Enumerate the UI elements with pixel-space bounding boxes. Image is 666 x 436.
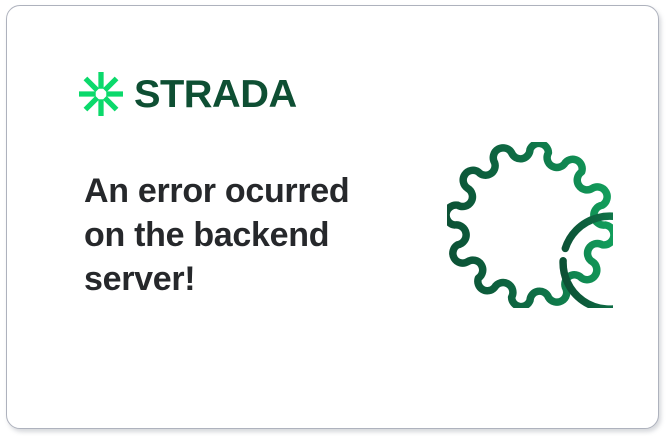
app-canvas: STRADA An error ocurred on the backend s… [0, 0, 666, 436]
error-message-line-3: server! [84, 257, 384, 301]
brand-logo: STRADA [79, 72, 294, 116]
error-message-line-2: on the backend [84, 213, 384, 257]
gear-spinner-icon [447, 142, 613, 308]
error-card: STRADA An error ocurred on the backend s… [6, 5, 659, 429]
asterisk-star-icon [79, 72, 123, 116]
error-message: An error ocurred on the backend server! [84, 169, 384, 301]
brand-wordmark: STRADA [134, 75, 297, 114]
error-message-line-1: An error ocurred [84, 169, 384, 213]
